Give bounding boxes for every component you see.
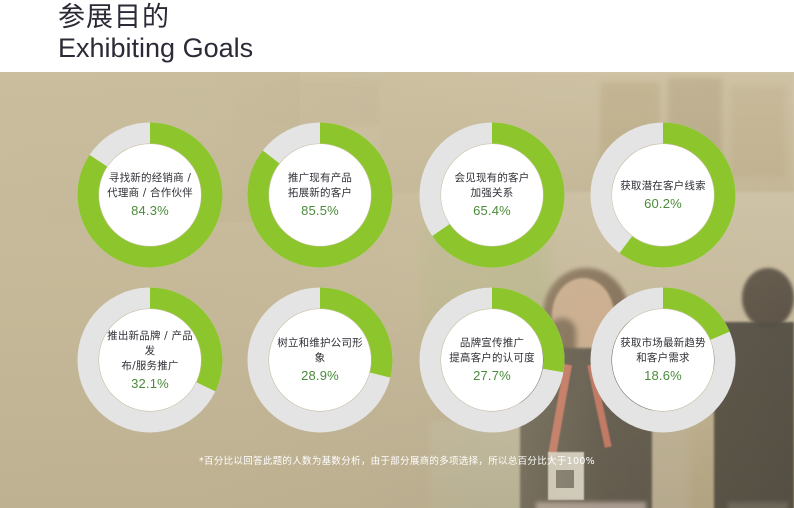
donut-chart: 寻找新的经销商 / 代理商 / 合作伙伴84.3% [77, 122, 223, 268]
donut-percent: 84.3% [131, 202, 169, 219]
page-title-cn: 参展目的 [58, 2, 170, 34]
donut-label: 品牌宣传推广 提高客户的认可度 [449, 336, 535, 366]
donut-chart: 获取市场最新趋势 和客户需求18.6% [590, 287, 736, 433]
donut-label: 寻找新的经销商 / 代理商 / 合作伙伴 [107, 171, 193, 201]
donut-percent: 27.7% [473, 367, 511, 384]
donut-label: 推出新品牌 / 产品发 布/服务推广 [103, 329, 197, 374]
donut-label: 获取市场最新趋势 和客户需求 [620, 336, 706, 366]
donut-label: 树立和维护公司形象 [273, 336, 367, 366]
donut-percent: 65.4% [473, 202, 511, 219]
slide-root: 参展目的 Exhibiting Goals 寻找新的经销商 / 代理商 / 合作… [0, 0, 794, 508]
donut-percent: 28.9% [301, 367, 339, 384]
donut-center: 获取市场最新趋势 和客户需求18.6% [612, 309, 714, 411]
donut-center: 品牌宣传推广 提高客户的认可度27.7% [441, 309, 543, 411]
donut-label: 获取潜在客户线索 [620, 179, 706, 194]
footnote-text: *百分比以回答此题的人数为基数分析，由于部分展商的多项选择，所以总百分比大于10… [0, 455, 794, 469]
donut-label: 推广现有产品 拓展新的客户 [288, 171, 352, 201]
header-bar: 参展目的 Exhibiting Goals [0, 0, 794, 72]
donut-chart: 推广现有产品 拓展新的客户85.5% [247, 122, 393, 268]
donut-percent: 85.5% [301, 202, 339, 219]
donut-percent: 18.6% [644, 367, 682, 384]
donut-center: 寻找新的经销商 / 代理商 / 合作伙伴84.3% [99, 144, 201, 246]
page-title-en: Exhibiting Goals [58, 31, 253, 65]
donut-percent: 60.2% [644, 195, 682, 212]
donut-chart: 会见现有的客户 加强关系65.4% [419, 122, 565, 268]
donut-center: 会见现有的客户 加强关系65.4% [441, 144, 543, 246]
donut-label: 会见现有的客户 加强关系 [455, 171, 530, 201]
donut-chart: 树立和维护公司形象28.9% [247, 287, 393, 433]
donut-center: 树立和维护公司形象28.9% [269, 309, 371, 411]
donut-center: 推广现有产品 拓展新的客户85.5% [269, 144, 371, 246]
donut-percent: 32.1% [131, 375, 169, 392]
donut-chart: 获取潜在客户线索60.2% [590, 122, 736, 268]
donut-chart-grid: 寻找新的经销商 / 代理商 / 合作伙伴84.3%推广现有产品 拓展新的客户85… [0, 0, 794, 508]
donut-center: 推出新品牌 / 产品发 布/服务推广32.1% [99, 309, 201, 411]
donut-chart: 品牌宣传推广 提高客户的认可度27.7% [419, 287, 565, 433]
donut-chart: 推出新品牌 / 产品发 布/服务推广32.1% [77, 287, 223, 433]
donut-center: 获取潜在客户线索60.2% [612, 144, 714, 246]
